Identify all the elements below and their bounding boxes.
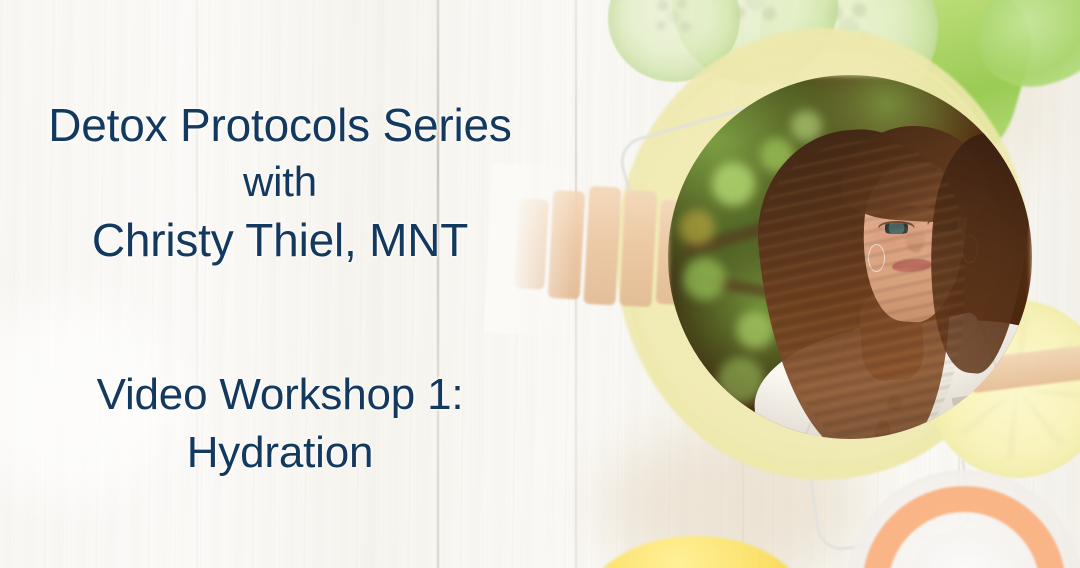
presenter-portrait — [668, 75, 1032, 439]
headline-line-3: Christy Thiel, MNT — [0, 210, 560, 270]
subhead-group: Video Workshop 1: Hydration — [0, 366, 560, 482]
plank-seam — [437, 0, 439, 568]
presentation-slide: Detox Protocols Series with Christy Thie… — [0, 0, 1080, 568]
plank-seam — [196, 0, 198, 568]
subhead-line-1: Video Workshop 1: — [0, 366, 560, 424]
headline-line-2: with — [0, 154, 560, 210]
headline-group: Detox Protocols Series with Christy Thie… — [0, 96, 560, 270]
plank-seam — [575, 0, 577, 568]
portrait-vignette — [668, 75, 1032, 439]
subhead-line-2: Hydration — [0, 424, 560, 482]
headline-line-1: Detox Protocols Series — [0, 96, 560, 154]
